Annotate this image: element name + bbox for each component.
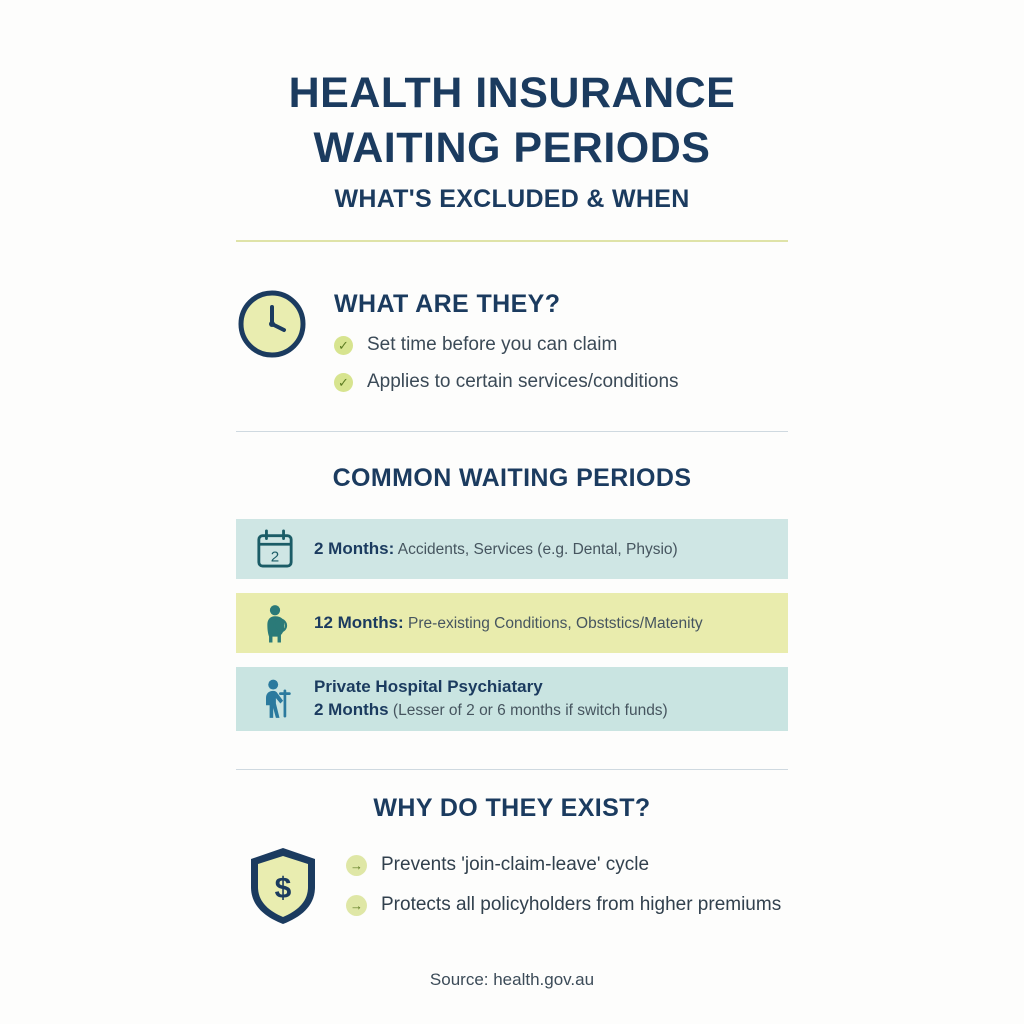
check-icon: ✓ bbox=[334, 373, 353, 392]
list-item-label: Prevents 'join-claim-leave' cycle bbox=[381, 854, 649, 876]
waiting-period-bars: 2 2 Months: Accidents, Services (e.g. De… bbox=[236, 519, 788, 731]
waiting-period-lead: Private Hospital Psychiatary bbox=[314, 676, 668, 699]
list-item-label: Set time before you can claim bbox=[367, 334, 617, 356]
page-title-line-1: Health Insurance bbox=[0, 66, 1024, 121]
section-heading-common-waiting-periods: Common Waiting Periods bbox=[0, 464, 1024, 493]
waiting-period-row-12-months: 12 Months: Pre-existing Conditions, Obst… bbox=[236, 593, 788, 653]
section-why-do-they-exist: Why Do They Exist? $ → Prevents 'join-cl… bbox=[0, 794, 1024, 934]
waiting-period-detail: Pre-existing Conditions, Obststics/Maten… bbox=[404, 615, 703, 632]
calendar-icon: 2 bbox=[254, 526, 296, 572]
waiting-period-row-2-months: 2 2 Months: Accidents, Services (e.g. De… bbox=[236, 519, 788, 579]
waiting-period-text: Private Hospital Psychiatary 2 Months (L… bbox=[314, 676, 668, 722]
list-item: ✓ Set time before you can claim bbox=[334, 334, 679, 356]
waiting-period-text: 12 Months: Pre-existing Conditions, Obst… bbox=[314, 612, 703, 635]
list-item-label: Protects all policyholders from higher p… bbox=[381, 894, 781, 916]
section-divider-2 bbox=[236, 769, 788, 770]
waiting-period-line2-detail: (Lesser of 2 or 6 months if switch funds… bbox=[389, 702, 668, 719]
list-item-label: Applies to certain services/conditions bbox=[367, 371, 679, 393]
list-item: → Prevents 'join-claim-leave' cycle bbox=[346, 854, 781, 876]
waiting-period-detail: Accidents, Services (e.g. Dental, Physio… bbox=[394, 541, 677, 558]
waiting-period-lead: 2 Months: bbox=[314, 539, 394, 558]
section-heading-why-do-they-exist: Why Do They Exist? bbox=[0, 794, 1024, 823]
arrow-icon: → bbox=[346, 855, 367, 876]
section-common-waiting-periods: Common Waiting Periods 2 2 Months: Accid… bbox=[0, 464, 1024, 731]
infographic-poster: Health Insurance Waiting Periods What's … bbox=[0, 0, 1024, 1024]
check-icon: ✓ bbox=[334, 336, 353, 355]
list-item: ✓ Applies to certain services/conditions bbox=[334, 371, 679, 393]
page-title-line-2: Waiting Periods bbox=[0, 121, 1024, 176]
svg-text:2: 2 bbox=[271, 548, 279, 565]
waiting-period-line2-lead: 2 Months bbox=[314, 700, 389, 719]
list-item: → Protects all policyholders from higher… bbox=[346, 894, 781, 916]
what-are-they-body: What Are They? ✓ Set time before you can… bbox=[334, 286, 679, 393]
pregnant-person-icon bbox=[254, 600, 296, 646]
shield-dollar-icon: $ bbox=[246, 845, 320, 925]
clock-icon bbox=[238, 290, 306, 358]
waiting-period-row-psychiatric: Private Hospital Psychiatary 2 Months (L… bbox=[236, 667, 788, 731]
waiting-period-lead: 12 Months: bbox=[314, 613, 404, 632]
why-bullet-list: → Prevents 'join-claim-leave' cycle → Pr… bbox=[346, 845, 781, 934]
svg-text:$: $ bbox=[275, 872, 292, 905]
section-divider-1 bbox=[236, 431, 788, 432]
arrow-icon: → bbox=[346, 895, 367, 916]
person-with-crutch-icon bbox=[254, 676, 296, 722]
why-body: $ → Prevents 'join-claim-leave' cycle → … bbox=[0, 845, 1024, 934]
header-divider bbox=[236, 240, 788, 242]
waiting-period-text: 2 Months: Accidents, Services (e.g. Dent… bbox=[314, 538, 678, 561]
poster-header: Health Insurance Waiting Periods What's … bbox=[0, 0, 1024, 242]
page-subtitle: What's Excluded & When bbox=[0, 185, 1024, 214]
section-heading-what-are-they: What Are They? bbox=[334, 290, 679, 319]
waiting-period-second-line: 2 Months (Lesser of 2 or 6 months if swi… bbox=[314, 699, 668, 722]
source-note: Source: health.gov.au bbox=[0, 970, 1024, 990]
section-what-are-they: What Are They? ✓ Set time before you can… bbox=[0, 286, 1024, 393]
